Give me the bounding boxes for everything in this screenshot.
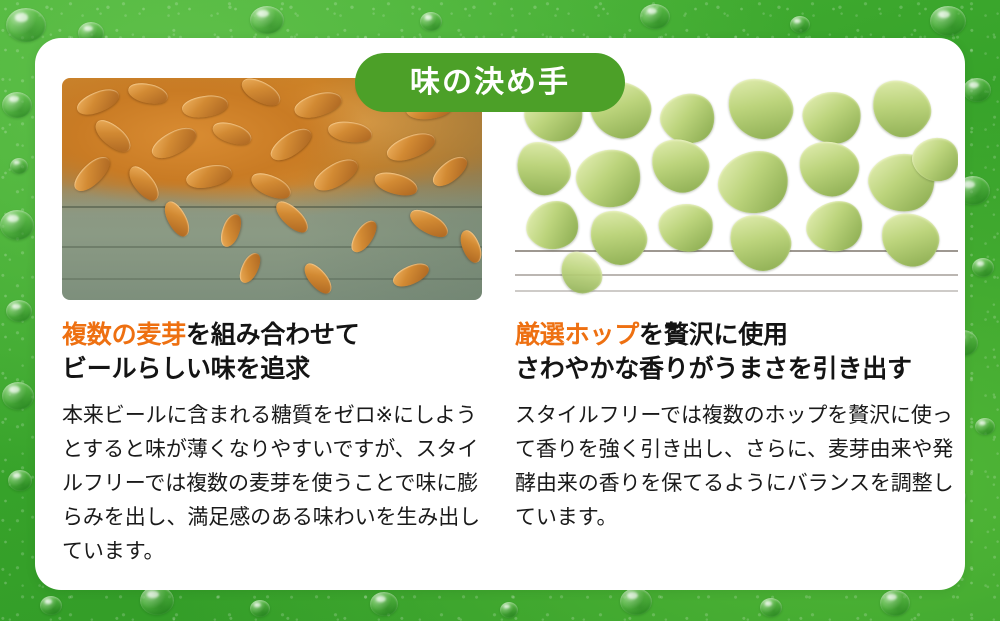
hop-cone <box>800 88 865 148</box>
water-droplet <box>370 592 398 616</box>
malt-grain <box>210 118 254 148</box>
column-malt: 複数の麦芽を組み合わせて ビールらしい味を追求 本来ビールに含まれる糖質をゼロ※… <box>62 38 482 590</box>
water-droplet <box>40 596 62 615</box>
water-droplet <box>420 12 442 31</box>
malt-grain <box>236 250 264 286</box>
hops-heading-line-2: さわやかな香りがうまさを引き出す <box>515 352 958 386</box>
hop-cone <box>646 134 715 198</box>
water-droplet <box>6 300 32 322</box>
water-droplet <box>880 590 910 616</box>
water-droplet <box>250 600 270 617</box>
malt-grain <box>248 168 295 203</box>
hop-cone <box>570 142 649 217</box>
promo-panel: 複数の麦芽を組み合わせて ビールらしい味を追求 本来ビールに含まれる糖質をゼロ※… <box>0 0 1000 621</box>
malt-grain <box>390 259 432 291</box>
wood-plank-line <box>62 246 482 248</box>
malt-grain <box>90 115 135 157</box>
malt-heading-rest: を組み合わせて <box>186 321 360 349</box>
malt-grain <box>126 80 169 107</box>
malt-grain <box>74 84 122 119</box>
malt-grain <box>271 197 312 238</box>
section-title-badge: 味の決め手 <box>355 53 625 112</box>
water-droplet <box>972 258 994 277</box>
hops-body-text: スタイルフリーでは複数のホップを贅沢に使って香りを強く引き出し、さらに、麦芽由来… <box>515 399 958 535</box>
malt-grain <box>124 162 164 205</box>
malt-heading-line-1: 複数の麦芽を組み合わせて <box>62 318 482 352</box>
hops-heading-line-1: 厳選ホップを贅沢に使用 <box>515 318 958 352</box>
water-droplet <box>975 418 995 435</box>
water-droplet <box>963 78 991 102</box>
water-droplet <box>140 586 174 615</box>
malt-grain <box>69 152 115 197</box>
malt-grain <box>238 78 284 111</box>
malt-grain <box>310 153 363 196</box>
malt-grain <box>428 152 471 192</box>
hop-cone <box>720 78 801 147</box>
water-droplet <box>500 602 518 618</box>
malt-heading-line-2: ビールらしい味を追求 <box>62 352 482 386</box>
malt-grain <box>181 93 229 120</box>
water-droplet <box>2 92 32 118</box>
water-droplet <box>760 598 782 617</box>
water-droplet <box>2 382 34 410</box>
hop-cone <box>796 138 863 200</box>
water-droplet <box>640 4 670 29</box>
water-droplet <box>250 6 284 34</box>
malt-grain <box>217 212 245 250</box>
malt-body-text: 本来ビールに含まれる糖質をゼロ※にしようとすると味が薄くなりやすいですが、スタイ… <box>62 399 482 569</box>
malt-grain <box>327 119 373 145</box>
malt-grain <box>384 128 439 166</box>
water-droplet <box>8 470 32 491</box>
column-hops: 厳選ホップを贅沢に使用 さわやかな香りがうまさを引き出す スタイルフリーでは複数… <box>515 38 958 590</box>
content-card: 複数の麦芽を組み合わせて ビールらしい味を追求 本来ビールに含まれる糖質をゼロ※… <box>35 38 965 590</box>
hops-heading: 厳選ホップを贅沢に使用 さわやかな香りがうまさを引き出す <box>515 318 958 386</box>
water-droplet <box>790 16 810 33</box>
hop-cone <box>657 201 716 254</box>
water-droplet <box>10 158 28 174</box>
hop-cone <box>515 133 580 205</box>
malt-grain <box>347 217 381 256</box>
malt-grain <box>148 122 201 164</box>
water-droplet <box>6 8 46 42</box>
two-column-layout: 複数の麦芽を組み合わせて ビールらしい味を追求 本来ビールに含まれる糖質をゼロ※… <box>35 38 965 590</box>
hop-cone <box>876 209 944 272</box>
hops-heading-accent: 厳選ホップ <box>515 321 639 349</box>
water-droplet <box>930 6 966 36</box>
water-droplet <box>0 210 34 240</box>
malt-grain <box>372 168 420 199</box>
malt-grain <box>184 161 233 191</box>
malt-grain <box>292 88 344 122</box>
wood-plank-line <box>62 206 482 208</box>
malt-heading: 複数の麦芽を組み合わせて ビールらしい味を追求 <box>62 318 482 386</box>
hop-cone <box>723 209 797 278</box>
hop-cone <box>862 78 940 146</box>
water-droplet <box>620 588 652 615</box>
section-title-text: 味の決め手 <box>410 68 570 98</box>
malt-heading-accent: 複数の麦芽 <box>62 321 186 349</box>
hop-cone <box>709 140 799 226</box>
hops-heading-rest: を贅沢に使用 <box>639 321 788 349</box>
malt-grain <box>266 123 316 166</box>
malt-grain <box>406 205 452 242</box>
malt-grain <box>160 198 194 240</box>
